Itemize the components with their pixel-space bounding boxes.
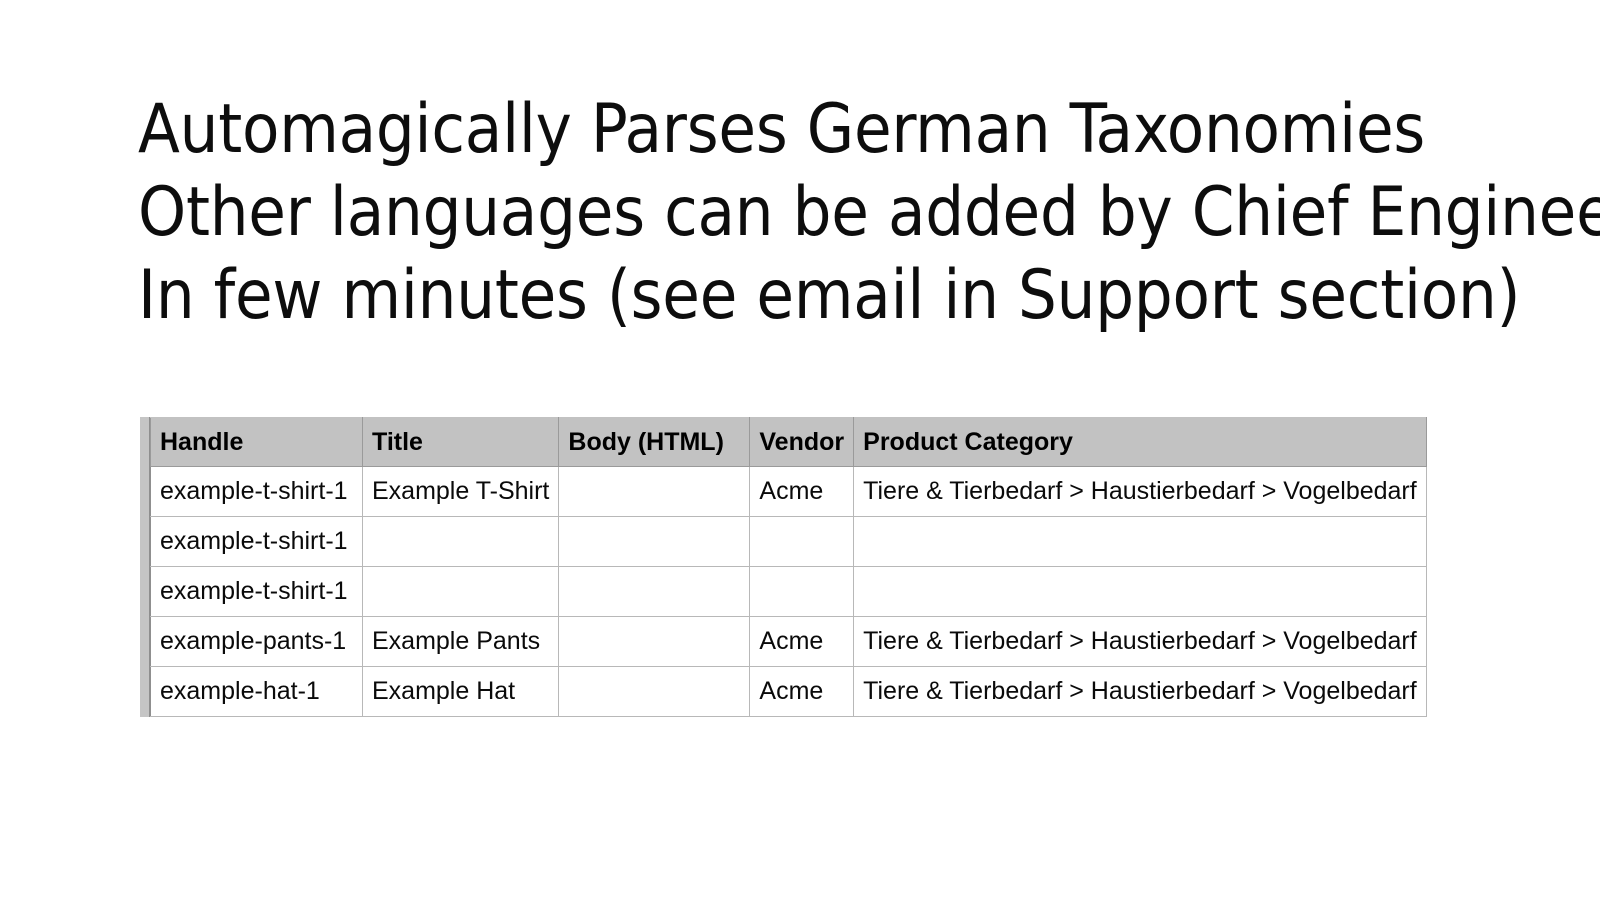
table-header-row: Handle Title Body (HTML) Vendor Product … xyxy=(151,418,1427,467)
column-header-body-html[interactable]: Body (HTML) xyxy=(559,418,750,467)
cell-product-category[interactable] xyxy=(854,517,1427,567)
slide-heading: Automagically Parses German Taxonomies O… xyxy=(138,88,1468,337)
cell-vendor[interactable]: Acme xyxy=(750,617,854,667)
table-row[interactable]: example-t-shirt-1 xyxy=(151,517,1427,567)
cell-body-html[interactable] xyxy=(559,567,750,617)
row-header-gutter xyxy=(140,417,150,717)
column-header-handle[interactable]: Handle xyxy=(151,418,363,467)
cell-body-html[interactable] xyxy=(559,467,750,517)
cell-handle[interactable]: example-t-shirt-1 xyxy=(151,467,363,517)
cell-product-category[interactable]: Tiere & Tierbedarf > Haustierbedarf > Vo… xyxy=(854,467,1427,517)
cell-product-category[interactable] xyxy=(854,567,1427,617)
cell-body-html[interactable] xyxy=(559,517,750,567)
cell-title[interactable]: Example T-Shirt xyxy=(363,467,559,517)
product-table: Handle Title Body (HTML) Vendor Product … xyxy=(150,417,1427,717)
cell-product-category[interactable]: Tiere & Tierbedarf > Haustierbedarf > Vo… xyxy=(854,667,1427,717)
table-row[interactable]: example-hat-1 Example Hat Acme Tiere & T… xyxy=(151,667,1427,717)
column-header-title[interactable]: Title xyxy=(363,418,559,467)
cell-vendor[interactable] xyxy=(750,567,854,617)
table-row[interactable]: example-t-shirt-1 Example T-Shirt Acme T… xyxy=(151,467,1427,517)
cell-title[interactable] xyxy=(363,567,559,617)
heading-line-1: Automagically Parses German Taxonomies xyxy=(138,88,1468,171)
cell-product-category[interactable]: Tiere & Tierbedarf > Haustierbedarf > Vo… xyxy=(854,617,1427,667)
cell-vendor[interactable]: Acme xyxy=(750,467,854,517)
cell-vendor[interactable]: Acme xyxy=(750,667,854,717)
cell-handle[interactable]: example-t-shirt-1 xyxy=(151,517,363,567)
table-header: Handle Title Body (HTML) Vendor Product … xyxy=(151,418,1427,467)
cell-title[interactable]: Example Hat xyxy=(363,667,559,717)
cell-body-html[interactable] xyxy=(559,667,750,717)
cell-handle[interactable]: example-hat-1 xyxy=(151,667,363,717)
product-table-container: Handle Title Body (HTML) Vendor Product … xyxy=(140,417,1427,717)
cell-handle[interactable]: example-t-shirt-1 xyxy=(151,567,363,617)
table-body: example-t-shirt-1 Example T-Shirt Acme T… xyxy=(151,467,1427,717)
heading-line-2: Other languages can be added by Chief En… xyxy=(138,171,1468,254)
cell-vendor[interactable] xyxy=(750,517,854,567)
column-header-vendor[interactable]: Vendor xyxy=(750,418,854,467)
heading-line-3: In few minutes (see email in Support sec… xyxy=(138,254,1468,337)
cell-handle[interactable]: example-pants-1 xyxy=(151,617,363,667)
table-row[interactable]: example-t-shirt-1 xyxy=(151,567,1427,617)
cell-title[interactable] xyxy=(363,517,559,567)
column-header-product-category[interactable]: Product Category xyxy=(854,418,1427,467)
cell-title[interactable]: Example Pants xyxy=(363,617,559,667)
table-row[interactable]: example-pants-1 Example Pants Acme Tiere… xyxy=(151,617,1427,667)
cell-body-html[interactable] xyxy=(559,617,750,667)
